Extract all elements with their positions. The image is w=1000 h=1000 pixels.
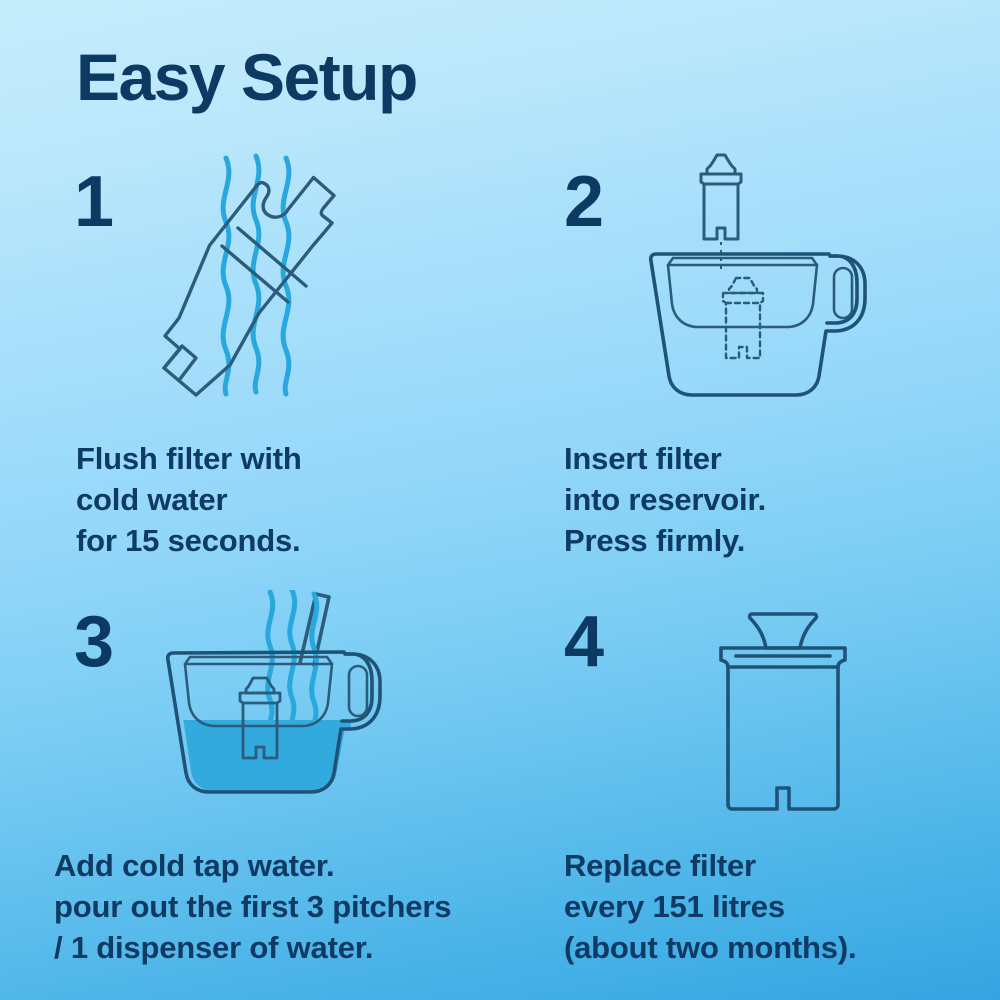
filter-cartridge-outline: [721, 614, 845, 809]
pitcher-filling-with-tap-water-icon: [158, 590, 418, 830]
easy-setup-infographic: Easy Setup 1 Flush filter with cold wate…: [0, 0, 1000, 1000]
step-4-illustration: [688, 600, 878, 835]
step-1-caption: Flush filter with cold water for 15 seco…: [76, 438, 302, 562]
step-4-caption: Replace filter every 151 litres (about t…: [564, 845, 856, 969]
step-number-4: 4: [564, 606, 602, 678]
pitcher-handle-inner: [834, 268, 852, 318]
step-2-illustration: [638, 150, 918, 425]
tilted-filter-under-running-water-icon: [108, 150, 408, 420]
pitcher-handle-inner: [349, 666, 367, 716]
step-number-1: 1: [74, 166, 112, 238]
replacement-filter-cartridge-icon: [688, 600, 878, 830]
seated-filter-outline: [723, 278, 763, 358]
page-title: Easy Setup: [76, 44, 417, 110]
step-3-illustration: [158, 590, 418, 835]
floating-filter-cartridge: [701, 155, 741, 239]
pitcher-water-fill: [158, 720, 418, 830]
filter-into-pitcher-icon: [638, 150, 918, 420]
step-3-caption: Add cold tap water. pour out the first 3…: [54, 845, 451, 969]
step-number-2: 2: [564, 166, 602, 238]
step-2-caption: Insert filter into reservoir. Press firm…: [564, 438, 766, 562]
step-number-3: 3: [74, 606, 112, 678]
step-1-illustration: [108, 150, 408, 425]
filter-cartridge-outline: [164, 178, 334, 396]
